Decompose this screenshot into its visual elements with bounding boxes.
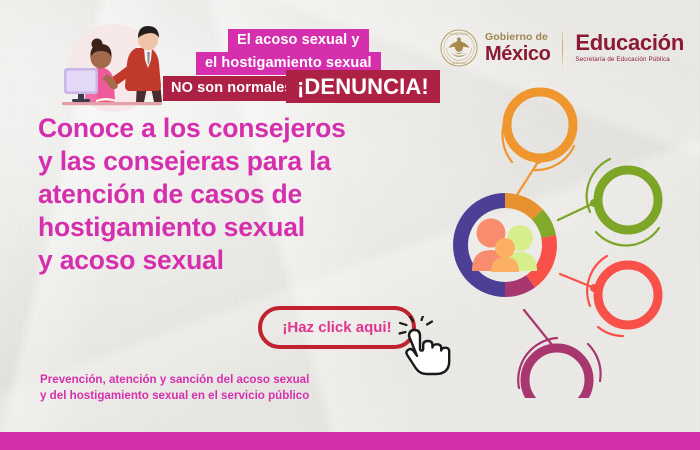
svg-text:MEXICANOS: MEXICANOS (452, 62, 466, 65)
educacion-label: Educación (575, 32, 684, 54)
workplace-harassment-illustration (52, 18, 184, 118)
footer-line-2: y del hostigamiento sexual en el servici… (40, 388, 440, 404)
headline-line-3: atención de casos de (38, 178, 418, 211)
government-logo: ESTADOS UNIDOS MEXICANOS Gobierno de Méx… (440, 26, 684, 70)
denuncia-label: ¡DENUNCIA! (286, 70, 440, 103)
mexican-eagle-seal-icon: ESTADOS UNIDOS MEXICANOS (440, 29, 478, 67)
logo-divider (562, 30, 563, 66)
sep-subtitle: Secretaría de Educación Pública (575, 57, 684, 63)
ring-orange (503, 92, 574, 170)
haz-click-aqui-button[interactable]: ¡Haz click aqui! (258, 306, 416, 349)
bottom-accent-bar (0, 432, 700, 450)
mexico-label: México (485, 44, 550, 64)
footer-caption: Prevención, atención y sanción del acoso… (40, 372, 440, 403)
tagline-line-1: El acoso sexual y (228, 29, 369, 52)
svg-text:ESTADOS UNIDOS: ESTADOS UNIDOS (449, 33, 469, 36)
page-title: Conoce a los consejeros y las consejeras… (38, 112, 418, 277)
headline-line-1: Conoce a los consejeros (38, 112, 418, 145)
ring-magenta (518, 338, 600, 398)
gobierno-de-label: Gobierno de (485, 32, 550, 43)
footer-line-1: Prevención, atención y sanción del acoso… (40, 372, 440, 388)
ring-green (587, 159, 659, 245)
donut-network-graphic (420, 78, 700, 398)
headline-line-4: hostigamiento sexual (38, 211, 418, 244)
ring-coral (587, 256, 658, 336)
cta-label: ¡Haz click aqui! (282, 319, 391, 336)
tagline-line-3: NO son normales, (163, 76, 305, 101)
headline-line-5: y acoso sexual (38, 244, 418, 277)
campaign-banner: El acoso sexual y el hostigamiento sexua… (0, 0, 700, 450)
headline-line-2: y las consejeras para la (38, 145, 418, 178)
